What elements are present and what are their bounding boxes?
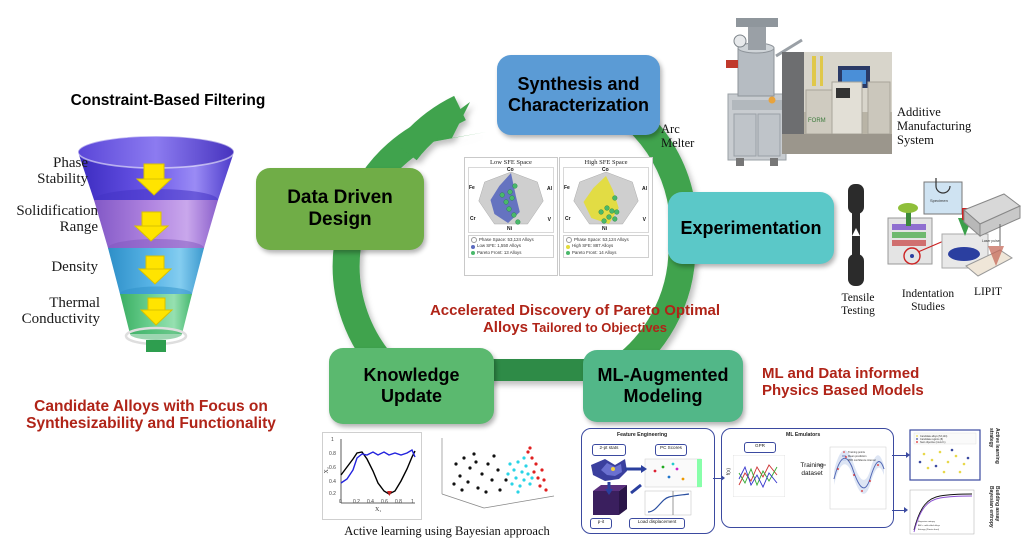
- funnel-outcome-text: Candidate Alloys with Focus on Synthesiz…: [6, 398, 296, 433]
- svg-text:95% confidence interval: 95% confidence interval: [848, 458, 876, 462]
- legend-filled-circle-icon: [471, 245, 475, 249]
- bayesian-caption: Active learning using Bayesian approach: [322, 524, 572, 538]
- svg-text:Entropy (Pareto front): Entropy (Pareto front): [918, 528, 939, 531]
- connector-feature-to-emulator: [713, 478, 721, 479]
- bayes-xtick-3: 0.6: [381, 499, 388, 505]
- tensile-specimen-icon: [842, 184, 870, 288]
- cycle-center-line2: Alloys Tailored to Objectives: [405, 320, 745, 337]
- funnel-stage-label-solidification-range: Solidification Range: [0, 204, 98, 236]
- sfe-high-element-ni: Ni: [602, 226, 607, 232]
- cycle-center-line1: Accelerated Discovery of Pareto Optimal: [405, 303, 745, 320]
- feature-engineering-graphics: [585, 455, 711, 517]
- connector-arrow-1: [721, 475, 725, 481]
- box-knowledge-line1: Knowledge: [363, 365, 459, 386]
- constraint-funnel: Phase Stability Solidification Range Den…: [36, 122, 276, 382]
- bayesian-3d-scatter: [432, 434, 562, 518]
- gpr-tag: GPR: [744, 442, 776, 453]
- sfe-high-element-v: V: [643, 217, 646, 223]
- lipit-icon: Laser pulse: [960, 180, 1022, 286]
- funnel-outcome-line2: Synthesizability and Functionality: [6, 415, 296, 432]
- box-experimentation-label: Experimentation: [680, 218, 821, 239]
- ml-physics-note: ML and Data informed Physics Based Model…: [762, 366, 1018, 400]
- legend-star-icon: [566, 251, 570, 255]
- filter-arrow-4: [141, 298, 172, 325]
- svg-text:Next objective (round 1): Next objective (round 1): [920, 441, 946, 444]
- box-synthesis-line1: Synthesis and: [508, 74, 649, 95]
- legend-star-icon: [471, 251, 475, 255]
- feature-engineering-title: Feature Engineering: [617, 432, 667, 438]
- box-data-driven-design-line1: Data Driven: [287, 187, 393, 209]
- sfe-high-element-cr: Cr: [565, 216, 571, 222]
- legend-open-circle-icon: [471, 237, 477, 243]
- box-data-driven-design[interactable]: Data Driven Design: [256, 168, 424, 250]
- funnel-title: Constraint-Based Filtering: [58, 92, 278, 110]
- funnel-stage-label-density: Density: [6, 260, 98, 276]
- legend-filled-circle-icon: [566, 245, 570, 249]
- svg-text:Bayesian entropy: Bayesian entropy: [918, 520, 936, 523]
- box-synthesis-characterization[interactable]: Synthesis and Characterization: [497, 55, 660, 135]
- tensile-testing-caption: Tensile Testing: [828, 292, 888, 318]
- bayes-xtick-4: 0.8: [395, 499, 402, 505]
- lipit-caption: LIPIT: [956, 286, 1020, 299]
- box-knowledge-update[interactable]: Knowledge Update: [329, 348, 494, 424]
- p-it-tag: p-it: [590, 518, 612, 529]
- ml-physics-note-line1: ML and Data informed: [762, 366, 1018, 383]
- svg-text:Laser pulse: Laser pulse: [982, 239, 1000, 243]
- box-ml-augmented-modeling[interactable]: ML-Augmented Modeling: [583, 350, 743, 422]
- bayes-xtick-0: 0: [339, 499, 342, 505]
- sfe-low-title: Low SFE Space: [465, 158, 557, 166]
- sfe-low-plot: Co Al V Ni Cr Fe: [468, 167, 554, 233]
- bayes-ytick-3: 0.8: [329, 451, 336, 457]
- sfe-high-element-co: Co: [602, 167, 609, 173]
- sfe-panel-low: Low SFE Space Co Al V Ni Cr Fe Phase Spa…: [464, 157, 558, 276]
- sfe-high-element-fe: Fe: [564, 185, 570, 191]
- box-ml-line2: Modeling: [598, 386, 729, 407]
- additive-manufacturing-caption: Additive Manufacturing System: [897, 105, 1007, 147]
- sfe-high-legend: Phase Space: 53,124 Alloys High SFE: 887…: [563, 235, 649, 258]
- ml-physics-note-line2: Physics Based Models: [762, 383, 1018, 400]
- svg-text:Specimen: Specimen: [930, 198, 948, 203]
- funnel-stage-label-thermal-conductivity: Thermal Conductivity: [0, 296, 100, 328]
- sfe-low-legend: Phase Space: 53,124 Alloys Low SFE: 1,55…: [468, 235, 554, 258]
- box-knowledge-line2: Update: [363, 386, 459, 407]
- sfe-high-title: High SFE Space: [560, 158, 652, 166]
- funnel-outcome-line1: Candidate Alloys with Focus on: [6, 398, 296, 415]
- bayes-xtick-1: 0.2: [353, 499, 360, 505]
- sfe-low-legend-item-2: Pareto Front: 13 Alloys: [471, 250, 551, 256]
- sfe-low-element-fe: Fe: [469, 185, 475, 191]
- sfe-low-element-cr: Cr: [470, 216, 476, 222]
- filter-arrow-3: [139, 256, 171, 284]
- connector-arrow-3: [904, 507, 908, 513]
- sfe-high-legend-item-2: Pareto Front: 14 Alloys: [566, 250, 646, 256]
- filter-arrow-2: [135, 212, 168, 241]
- sfe-low-element-co: Co: [507, 167, 514, 173]
- sfe-high-element-al: Al: [642, 186, 647, 192]
- sfe-high-plot: Co Al V Ni Cr Fe: [563, 167, 649, 233]
- svg-text:Training points: Training points: [848, 450, 866, 454]
- bayes-ytick-2: 0.6: [329, 465, 336, 471]
- bayes-ytick-0: 0.2: [329, 491, 336, 497]
- bayesian-entropy-panel: Bayesian entropy AM + cold rolled alloys…: [906, 488, 984, 544]
- bayes-ytick-4: 1: [331, 437, 334, 443]
- svg-text:Mean prediction: Mean prediction: [848, 454, 867, 458]
- sfe-low-element-ni: Ni: [507, 226, 512, 232]
- bayes-xtick-5: 1: [411, 499, 414, 505]
- cycle-center-alloys: Alloys: [483, 319, 528, 336]
- bayesian-line-plot: X₂ X₁ 0 0.2 0.4 0.6 0.8 1 1 0.8 0.6 0.4 …: [322, 432, 422, 520]
- bayes-xlabel: X₁: [375, 507, 381, 513]
- sfe-low-element-al: Al: [547, 186, 552, 192]
- load-displacement-tag: Load displacement: [629, 518, 685, 529]
- box-experimentation[interactable]: Experimentation: [668, 192, 834, 264]
- active-learning-panel: Candidate alloys (53,124) Candidate regi…: [908, 428, 986, 484]
- f-x-axis-label: f(x): [726, 468, 732, 475]
- filter-arrow-1: [137, 164, 171, 195]
- bayes-xtick-2: 0.4: [367, 499, 374, 505]
- connector-arrow-2: [906, 452, 910, 458]
- ml-emulators-title: ML Emulators: [786, 432, 820, 438]
- box-synthesis-line2: Characterization: [508, 95, 649, 116]
- funnel-stage-label-phase-stability: Phase Stability: [2, 156, 88, 188]
- legend-open-circle-icon: [566, 237, 572, 243]
- sfe-panel-high: High SFE Space Co Al V Ni Cr Fe Phase Sp…: [559, 157, 653, 276]
- box-data-driven-design-line2: Design: [287, 209, 393, 231]
- bayes-ytick-1: 0.4: [329, 479, 336, 485]
- sfe-low-element-v: V: [548, 217, 551, 223]
- additive-manufacturing-photo: FORM: [782, 52, 892, 154]
- bayesian-entropy-label: Building assay Bayesian entropy: [988, 486, 1000, 544]
- arc-melter-caption: Arc Melter: [661, 122, 711, 150]
- cycle-center-text: Accelerated Discovery of Pareto Optimal …: [405, 303, 745, 337]
- funnel-output-arrow: [136, 340, 176, 352]
- svg-text:AM + cold rolled alloys: AM + cold rolled alloys: [918, 524, 941, 527]
- box-ml-line1: ML-Augmented: [598, 365, 729, 386]
- cycle-center-tailored: Tailored to Objectives: [532, 320, 667, 335]
- active-learning-strategy-label: Active learning strategy: [988, 428, 1000, 484]
- gpr-sample-plot: [733, 455, 785, 497]
- svg-text:FORM: FORM: [808, 118, 826, 124]
- emulator-fit-plot: Training points Mean prediction 95% conf…: [780, 445, 888, 517]
